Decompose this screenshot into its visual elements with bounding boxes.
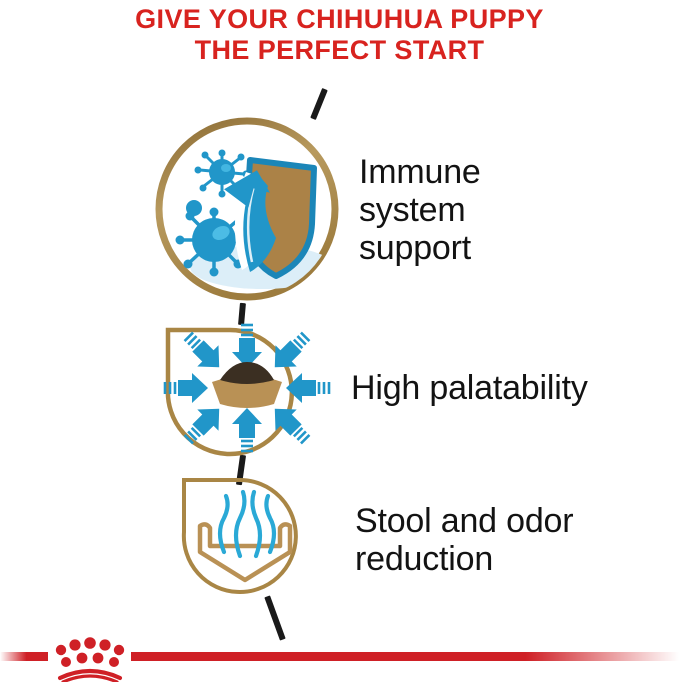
footer-bar-left <box>0 652 48 661</box>
feature-stool-and-odor-reduction: Stool and odor reduction <box>150 470 573 610</box>
feature-label-high-palatability: High palatability <box>351 369 588 407</box>
feature-label-immune-system-support: Immune system support <box>359 153 481 267</box>
shield-virus-icon <box>150 112 345 307</box>
page-title-line-1: GIVE YOUR CHIHUHUA PUPPY <box>0 4 679 35</box>
footer-bar-right <box>131 652 679 661</box>
down-arrow-odor-icon <box>150 470 345 610</box>
food-bowl-arrows-icon <box>150 318 345 458</box>
page-title: GIVE YOUR CHIHUHUA PUPPY THE PERFECT STA… <box>0 4 679 66</box>
page-title-line-2: THE PERFECT START <box>0 35 679 66</box>
royal-canin-crown-logo <box>50 634 130 682</box>
feature-label-stool-and-odor-reduction: Stool and odor reduction <box>355 502 573 578</box>
feature-immune-system-support: Immune system support <box>150 112 481 307</box>
footer <box>0 630 679 686</box>
feature-high-palatability: High palatability <box>150 318 588 458</box>
